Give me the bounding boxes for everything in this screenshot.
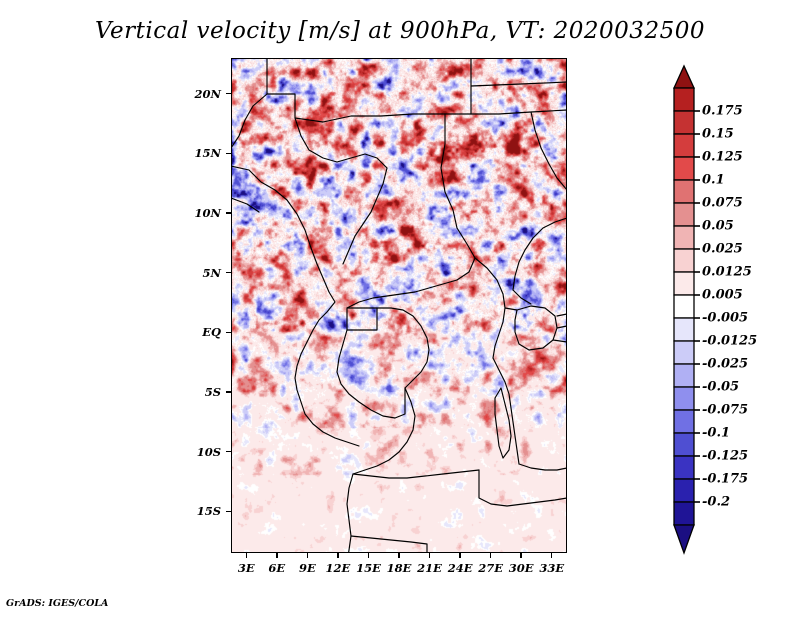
colorbar-cell (674, 410, 694, 433)
colorbar-cell (674, 134, 694, 157)
colorbar-tick-label: -0.0125 (702, 334, 757, 349)
colorbar-tick-label: 0.0125 (702, 265, 752, 280)
colorbar-tick-label: 0.05 (702, 219, 734, 234)
page-title: Vertical velocity [m/s] at 900hPa, VT: 2… (0, 18, 800, 44)
x-axis-label: 27E (478, 561, 503, 575)
colorbar-cell (674, 479, 694, 502)
x-tick-mark (490, 553, 491, 558)
chart-page: Vertical velocity [m/s] at 900hPa, VT: 2… (0, 0, 800, 618)
colorbar-cell (674, 226, 694, 249)
y-tick-mark (226, 212, 231, 213)
colorbar-cell (674, 249, 694, 272)
colorbar-tick-label: 0.025 (702, 242, 743, 257)
y-axis-label: 10S (173, 445, 221, 459)
colorbar-cell (674, 272, 694, 295)
y-tick-mark (226, 511, 231, 512)
colorbar-over-arrow (674, 66, 694, 88)
map-plot-area (231, 58, 567, 553)
colorbar-tick-label: 0.075 (702, 196, 743, 211)
x-tick-mark (459, 553, 460, 558)
colorbar-cell (674, 157, 694, 180)
y-axis-label: 5N (173, 266, 221, 280)
x-axis-label: 6E (268, 561, 285, 575)
colorbar-cell (674, 180, 694, 203)
colorbar-tick-label: -0.2 (702, 495, 730, 510)
colorbar-tick-label: 0.15 (702, 127, 734, 142)
colorbar-tick-label: -0.025 (702, 357, 748, 372)
colorbar-cell (674, 387, 694, 410)
y-axis-label: 20N (173, 87, 221, 101)
x-axis-label: 9E (299, 561, 316, 575)
colorbar-cell (674, 318, 694, 341)
grads-attribution: GrADS: IGES/COLA (6, 598, 108, 609)
colorbar-tick-label: -0.175 (702, 472, 748, 487)
x-axis-label: 3E (238, 561, 255, 575)
colorbar-cell (674, 88, 694, 111)
x-tick-mark (520, 553, 521, 558)
y-tick-mark (226, 332, 231, 333)
x-axis-label: 18E (387, 561, 412, 575)
colorbar-tick-label: -0.1 (702, 426, 730, 441)
colorbar-tick-label: 0.005 (702, 288, 743, 303)
x-tick-mark (368, 553, 369, 558)
x-axis-label: 30E (509, 561, 534, 575)
x-tick-mark (398, 553, 399, 558)
colorbar-tick-label: -0.125 (702, 449, 748, 464)
y-tick-mark (226, 451, 231, 452)
x-tick-mark (429, 553, 430, 558)
colorbar-cell (674, 111, 694, 134)
colorbar-cell (674, 502, 694, 525)
x-tick-mark (551, 553, 552, 558)
colorbar-under-arrow (674, 525, 694, 553)
x-axis-label: 24E (448, 561, 473, 575)
colorbar-cell (674, 203, 694, 226)
colorbar-cell (674, 433, 694, 456)
colorbar-cell (674, 341, 694, 364)
country-borders-overlay (231, 58, 567, 553)
x-tick-mark (276, 553, 277, 558)
colorbar-tick-label: 0.125 (702, 150, 743, 165)
colorbar-tick-label: -0.005 (702, 311, 748, 326)
colorbar-cell (674, 295, 694, 318)
x-axis-label: 12E (326, 561, 351, 575)
colorbar-cell (674, 364, 694, 387)
colorbar-tick-label: 0.175 (702, 104, 743, 119)
y-tick-mark (226, 153, 231, 154)
colorbar-tick-label: 0.1 (702, 173, 725, 188)
x-axis-label: 21E (417, 561, 442, 575)
y-axis-label: 5S (173, 385, 221, 399)
x-tick-mark (307, 553, 308, 558)
x-axis-label: 33E (539, 561, 564, 575)
x-axis-label: 15E (356, 561, 381, 575)
y-tick-mark (226, 272, 231, 273)
x-tick-mark (246, 553, 247, 558)
y-axis-label: EQ (173, 325, 221, 339)
colorbar-tick-label: -0.075 (702, 403, 748, 418)
x-tick-mark (337, 553, 338, 558)
y-axis-label: 10N (173, 206, 221, 220)
y-axis-label: 15S (173, 504, 221, 518)
colorbar-cell (674, 456, 694, 479)
y-tick-mark (226, 93, 231, 94)
y-axis-label: 15N (173, 146, 221, 160)
colorbar-tick-label: -0.05 (702, 380, 739, 395)
y-tick-mark (226, 391, 231, 392)
colorbar: 0.1750.150.1250.10.0750.050.0250.01250.0… (668, 60, 800, 560)
